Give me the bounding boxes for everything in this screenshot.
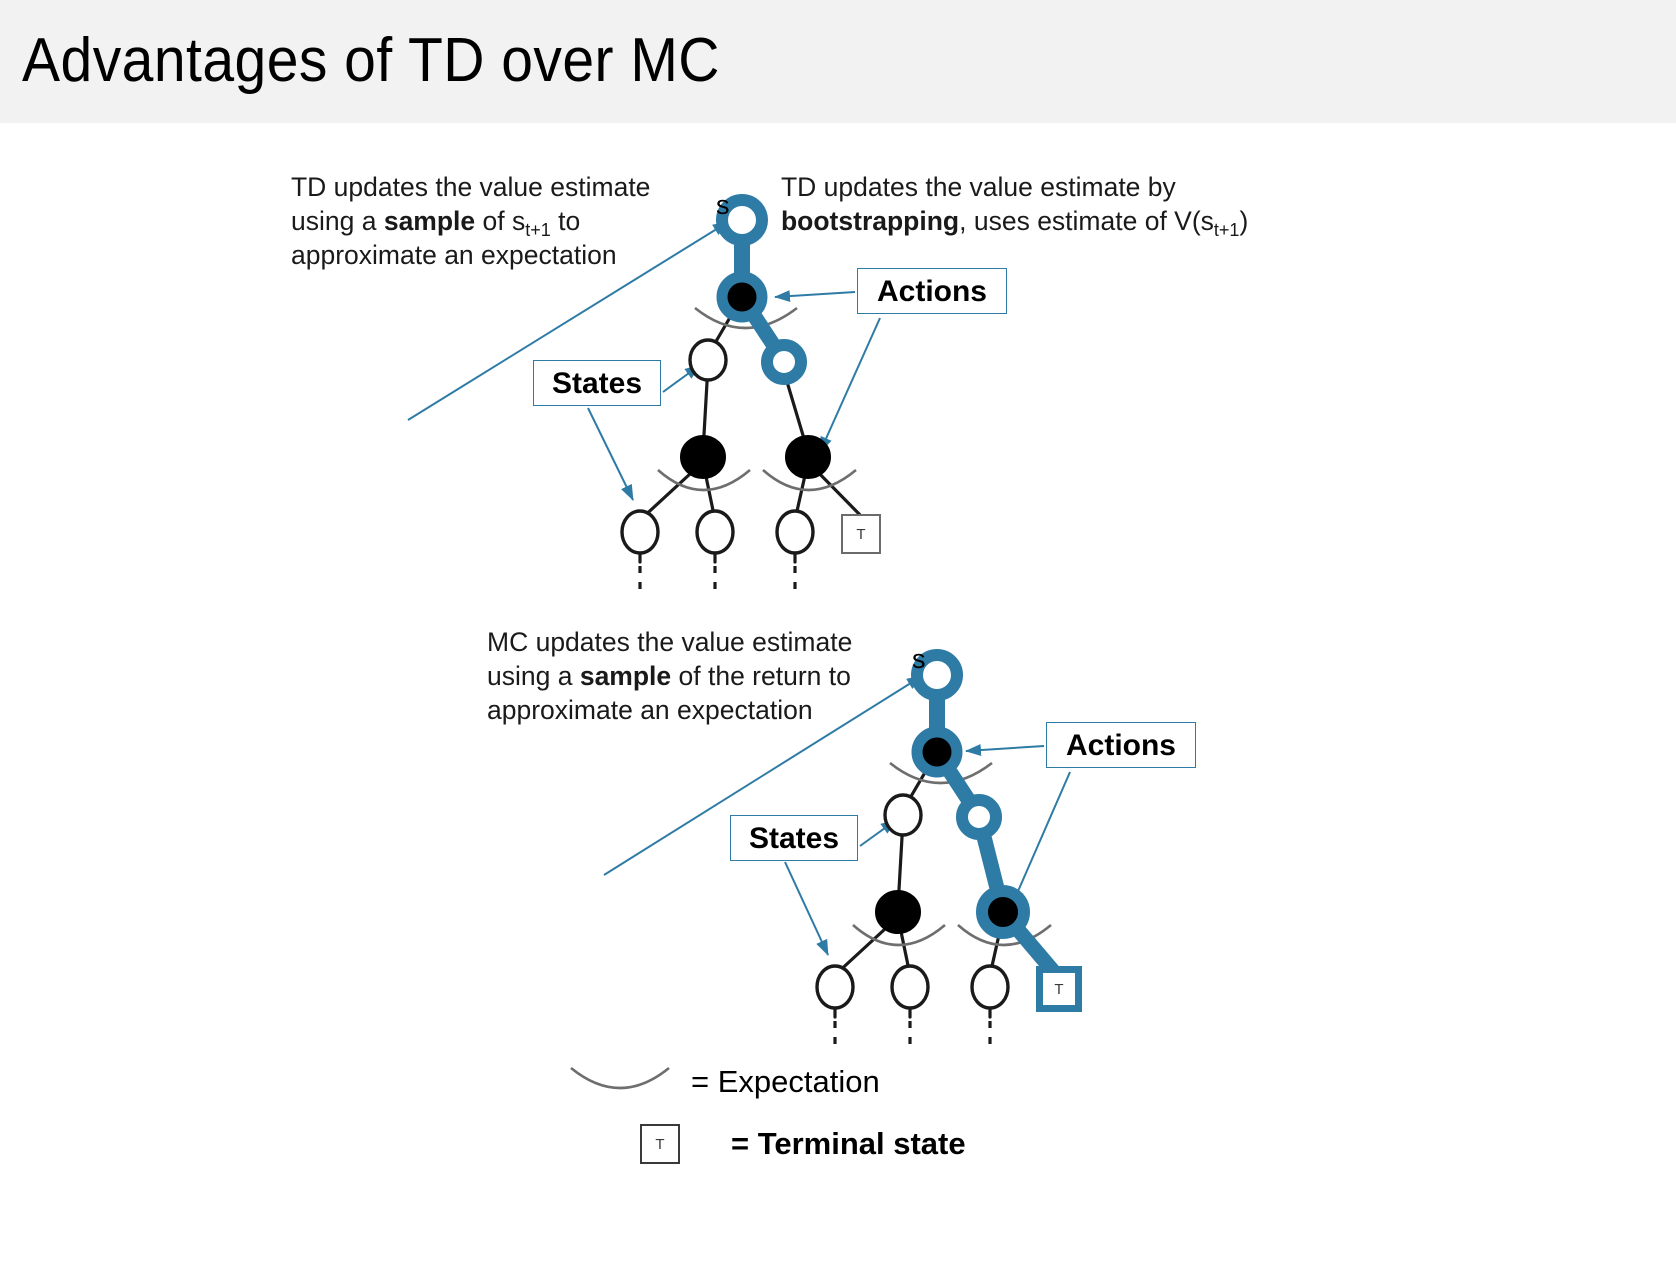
td-right-line2-sub: t+1 — [1214, 220, 1240, 240]
td-left-line2-mid: of s — [475, 206, 525, 236]
mc-dashed-continuations — [835, 1021, 990, 1045]
mc-node-state-sibling — [885, 795, 921, 835]
td-dashed-continuations — [640, 566, 795, 590]
td-terminal-state-box: T — [841, 514, 881, 554]
mc-terminal-state-box: T — [1036, 966, 1082, 1012]
td-right-line2-mid: , uses estimate of V(s — [959, 206, 1214, 236]
mc-line2-bold: sample — [580, 661, 671, 691]
legend-terminal-box-letter: T — [640, 1124, 680, 1164]
mc-node-action-left — [876, 891, 920, 933]
legend: = Expectation T = Terminal state — [565, 1062, 1125, 1192]
mc-node-leaf-state-2 — [892, 966, 928, 1008]
td-right-line2-post: ) — [1239, 206, 1248, 236]
td-node-next-state-highlight — [767, 345, 801, 379]
legend-row-expectation: = Expectation — [565, 1062, 880, 1102]
td-left-line2-bold: sample — [384, 206, 475, 236]
mc-node-leaf-state-3 — [972, 966, 1008, 1008]
td-tree-edges — [640, 297, 865, 562]
mc-node-next-state-highlight — [962, 800, 996, 834]
callout-states-td[interactable]: States — [533, 360, 661, 406]
td-left-line2-pre: using a — [291, 206, 384, 236]
legend-terminal-label: = Terminal state — [731, 1125, 966, 1163]
td-root-state-label: s — [716, 192, 730, 219]
terminal-state-icon: T — [605, 1124, 715, 1164]
callout-actions-mc[interactable]: Actions — [1046, 722, 1196, 768]
mc-node-action-highlight-2 — [982, 891, 1024, 933]
td-node-action-highlight — [722, 277, 762, 317]
td-node-leaf-state-1 — [622, 511, 658, 553]
mc-line2-pre: using a — [487, 661, 580, 691]
legend-expectation-label: = Expectation — [691, 1063, 880, 1101]
td-left-line2-sub: t+1 — [525, 220, 551, 240]
td-node-state-sibling — [690, 340, 726, 380]
mc-node-action-highlight-1 — [917, 732, 957, 772]
td-node-leaf-state-3 — [777, 511, 813, 553]
mc-node-leaf-state-1 — [817, 966, 853, 1008]
callout-actions-td[interactable]: Actions — [857, 268, 1007, 314]
td-node-leaf-state-2 — [697, 511, 733, 553]
page-title: Advantages of TD over MC — [22, 26, 720, 96]
expectation-arc-icon — [565, 1062, 675, 1102]
mc-root-state-label: s — [912, 646, 926, 673]
td-node-action-right — [786, 436, 830, 478]
callout-states-mc[interactable]: States — [730, 815, 858, 861]
td-node-action-left — [681, 436, 725, 478]
legend-row-terminal: T = Terminal state — [605, 1124, 966, 1164]
